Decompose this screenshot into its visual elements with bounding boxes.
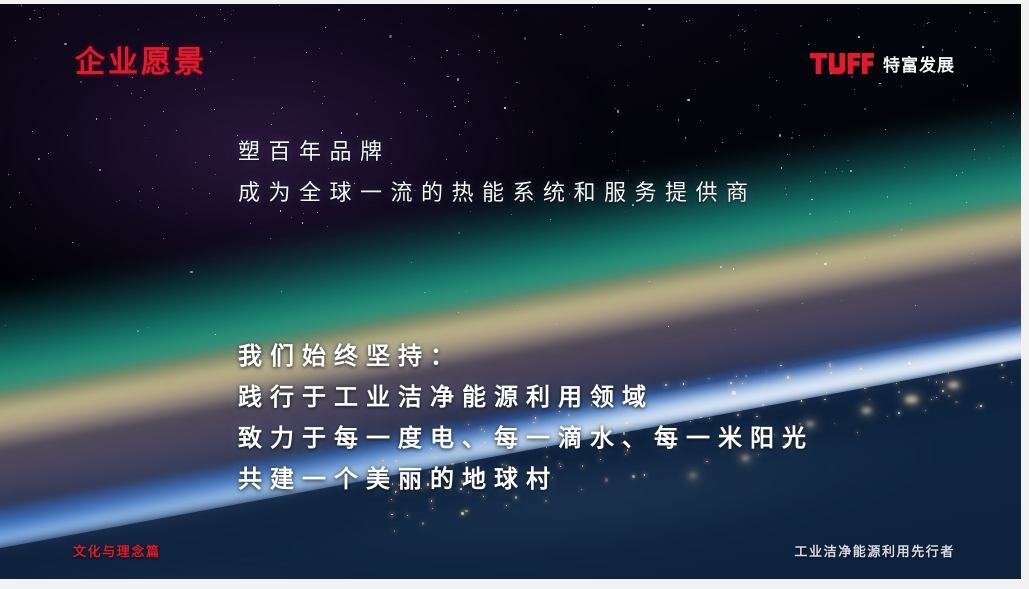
pledge-block: 我们始终坚持： 践行于工业洁净能源利用领域 致力于每一度电、每一滴水、每一米阳光…: [238, 336, 814, 500]
slide-page: 企业愿景 特富发展 塑百年品牌 成为全球一流的热能系统和服务提供商: [0, 0, 1029, 589]
footer-tagline: 工业洁净能源利用先行者: [794, 541, 955, 560]
presentation-slide: 企业愿景 特富发展 塑百年品牌 成为全球一流的热能系统和服务提供商: [0, 4, 1021, 579]
pledge-line: 我们始终坚持：: [238, 336, 814, 377]
pledge-line: 共建一个美丽的地球村: [238, 459, 814, 500]
vision-line: 塑百年品牌: [238, 132, 757, 173]
tuff-wordmark-icon: [810, 53, 874, 74]
vision-block: 塑百年品牌 成为全球一流的热能系统和服务提供商: [238, 132, 757, 214]
brand-name-cn: 特富发展: [883, 51, 955, 76]
brand-logo: 特富发展: [810, 51, 955, 76]
vision-line: 成为全球一流的热能系统和服务提供商: [238, 173, 757, 214]
footer-section-label: 文化与理念篇: [73, 541, 161, 560]
pledge-line: 致力于每一度电、每一滴水、每一米阳光: [238, 418, 814, 459]
pledge-line: 践行于工业洁净能源利用领域: [238, 377, 814, 418]
page-title: 企业愿景: [75, 48, 207, 78]
